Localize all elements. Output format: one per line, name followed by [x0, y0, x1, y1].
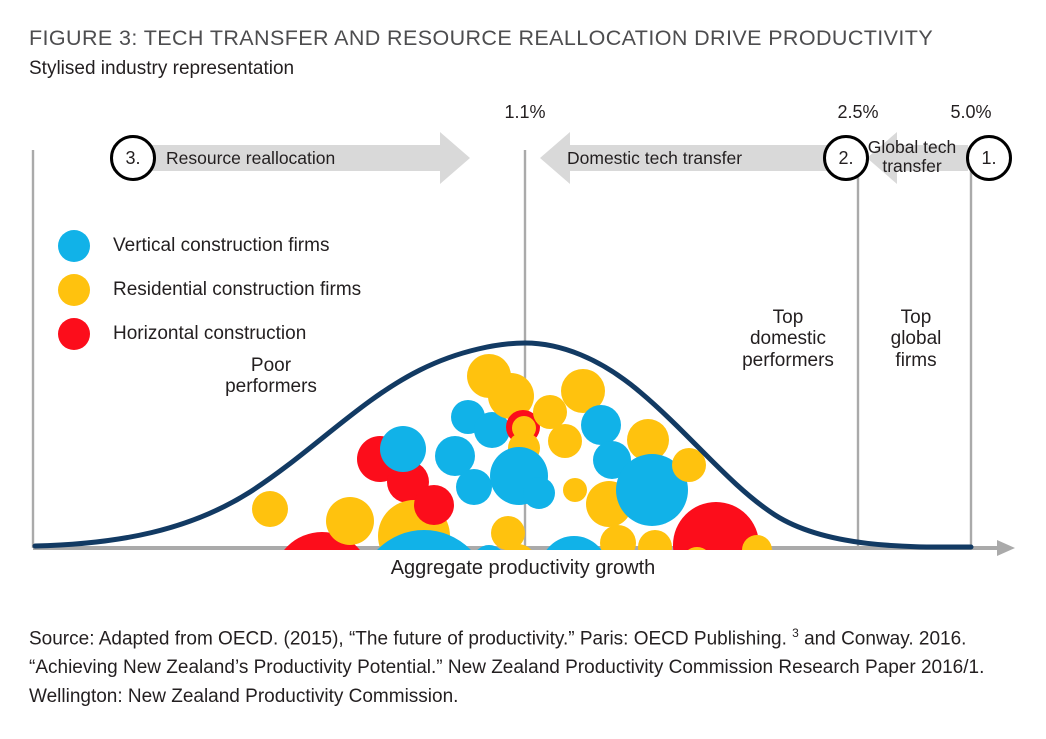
- legend-swatch-yellow-icon: [58, 274, 90, 306]
- source-note: Source: Adapted from OECD. (2015), “The …: [29, 624, 1019, 712]
- bubble-point: [682, 547, 712, 570]
- legend-item-vertical[interactable]: Vertical construction firms: [58, 224, 361, 268]
- annotation-domestic-line1: Top: [718, 307, 858, 328]
- legend-swatch-blue-icon: [58, 230, 90, 262]
- annotation-global-line3: firms: [866, 350, 966, 371]
- page-title: FIGURE 3: TECH TRANSFER AND RESOURCE REA…: [29, 26, 933, 51]
- x-tick-2: 2.5%: [837, 102, 878, 123]
- annotation-top-domestic: Top domestic performers: [718, 307, 858, 371]
- bubble-point: [600, 525, 636, 561]
- bubble-point: [523, 477, 555, 509]
- legend: Vertical construction firms Residential …: [58, 224, 361, 356]
- bubble-point: [456, 469, 492, 505]
- annotation-domestic-line2: domestic: [718, 328, 858, 349]
- bubble-point: [533, 395, 567, 429]
- bubble-point: [380, 426, 426, 472]
- annotation-top-global: Top global firms: [866, 307, 966, 371]
- band-label-global-line1: Global tech: [862, 138, 962, 157]
- marker-2-label: 2.: [838, 148, 853, 169]
- legend-label-vertical: Vertical construction firms: [113, 235, 329, 257]
- source-footnote-marker: 3: [792, 626, 799, 640]
- bubble-point: [252, 491, 288, 527]
- legend-label-horizontal: Horizontal construction: [113, 323, 306, 345]
- band-label-global-line2: transfer: [862, 157, 962, 176]
- legend-item-horizontal[interactable]: Horizontal construction: [58, 312, 361, 356]
- chart-plot-area: 1.1% 2.5% 5.0% 3. 2. 1. Resource realloc…: [0, 100, 1046, 570]
- bubble-point: [563, 478, 587, 502]
- band-label-resource-reallocation: Resource reallocation: [166, 148, 335, 169]
- legend-label-residential: Residential construction firms: [113, 279, 361, 301]
- annotation-global-line2: global: [866, 328, 966, 349]
- page-subtitle: Stylised industry representation: [29, 58, 294, 80]
- x-tick-1: 1.1%: [504, 102, 545, 123]
- bubble-point: [326, 497, 374, 545]
- legend-item-residential[interactable]: Residential construction firms: [58, 268, 361, 312]
- marker-1[interactable]: 1.: [966, 135, 1012, 181]
- figure-container: FIGURE 3: TECH TRANSFER AND RESOURCE REA…: [0, 0, 1046, 739]
- x-tick-3: 5.0%: [950, 102, 991, 123]
- bubble-point: [414, 485, 454, 525]
- source-part1: Source: Adapted from OECD. (2015), “The …: [29, 628, 792, 649]
- annotation-global-line1: Top: [866, 307, 966, 328]
- annotation-poor-line1: Poor: [196, 355, 346, 376]
- annotation-domestic-line3: performers: [718, 350, 858, 371]
- legend-swatch-red-icon: [58, 318, 90, 350]
- bubble-point: [673, 502, 759, 570]
- bubble-point: [548, 424, 582, 458]
- bubble-point: [581, 405, 621, 445]
- annotation-poor-line2: performers: [196, 376, 346, 397]
- marker-1-label: 1.: [981, 148, 996, 169]
- bubble-point: [676, 565, 712, 570]
- x-axis-title: Aggregate productivity growth: [391, 557, 656, 580]
- band-label-domestic-tech-transfer: Domestic tech transfer: [567, 148, 742, 169]
- annotation-poor-performers: Poor performers: [196, 355, 346, 398]
- bubble-point: [742, 535, 772, 565]
- band-label-global-tech-transfer: Global tech transfer: [862, 138, 962, 176]
- marker-3[interactable]: 3.: [110, 135, 156, 181]
- marker-3-label: 3.: [125, 148, 140, 169]
